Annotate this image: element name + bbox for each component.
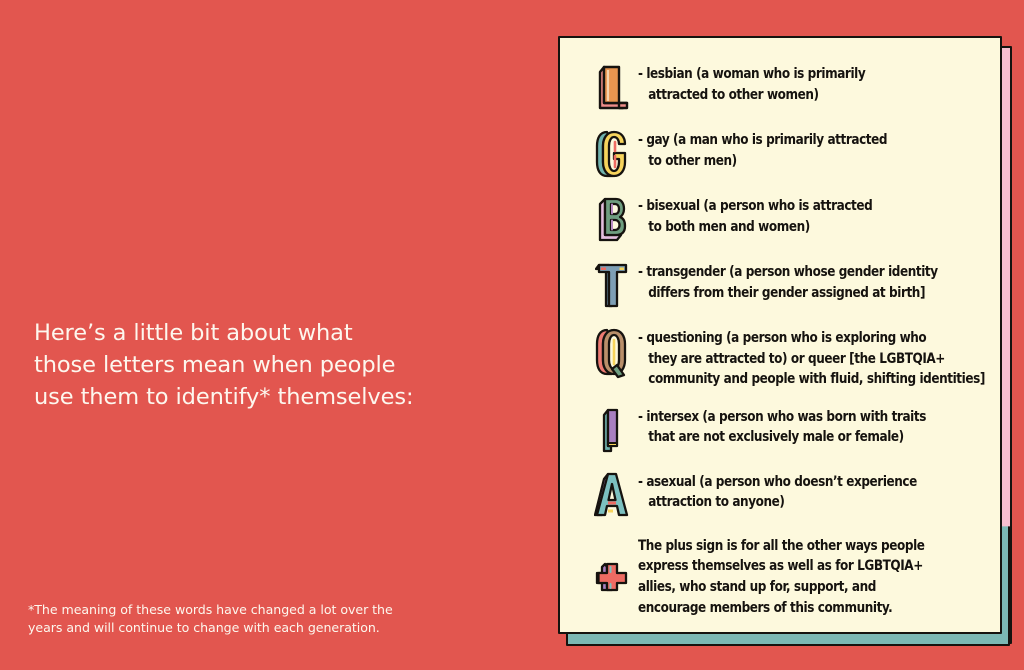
glossary-entry: - gay (a man who is primarily attracted …	[586, 128, 988, 179]
entry-line: differs from their gender assigned at bi…	[638, 283, 964, 304]
glossary-entry: The plus sign is for all the other ways …	[586, 534, 988, 618]
glossary-entry-text: The plus sign is for all the other ways …	[638, 534, 964, 618]
entry-line: - lesbian (a woman who is primarily	[638, 64, 964, 85]
glossary-entry-text: - bisexual (a person who is attracted to…	[638, 194, 964, 237]
entry-line: they are attracted to) or queer [the LGB…	[638, 349, 985, 370]
entry-line: to both men and women)	[638, 217, 964, 238]
glossary-entry: - intersex (a person who was born with t…	[586, 405, 988, 455]
entry-line: encourage members of this community.	[638, 598, 964, 619]
glossary-entry: - lesbian (a woman who is primarily attr…	[586, 62, 988, 113]
letter-l-icon	[586, 62, 638, 113]
footnote: *The meaning of these words have changed…	[28, 601, 478, 638]
entry-line: attraction to anyone)	[638, 492, 964, 513]
letter-a-icon	[586, 470, 638, 519]
glossary-entry: - transgender (a person whose gender ide…	[586, 260, 988, 311]
entry-line: - intersex (a person who was born with t…	[638, 407, 964, 428]
entry-line: - gay (a man who is primarily attracted	[638, 130, 964, 151]
glossary-card-wrapper: - lesbian (a woman who is primarily attr…	[558, 36, 1002, 634]
intro-paragraph: Here’s a little bit about what those let…	[34, 318, 464, 414]
intro-line: use them to identify* themselves:	[34, 382, 464, 414]
entry-line: to other men)	[638, 151, 964, 172]
entry-line: community and people with fluid, shiftin…	[638, 369, 985, 390]
entry-line: The plus sign is for all the other ways …	[638, 536, 964, 557]
glossary-entry: - asexual (a person who doesn’t experien…	[586, 470, 988, 519]
entry-line: - bisexual (a person who is attracted	[638, 196, 964, 217]
footnote-line: years and will continue to change with e…	[28, 619, 478, 637]
entry-line: - questioning (a person who is exploring…	[638, 328, 985, 349]
letter-g-icon	[586, 128, 638, 179]
footnote-line: *The meaning of these words have changed…	[28, 601, 478, 619]
page-root: Here’s a little bit about what those let…	[0, 0, 1024, 670]
glossary-entry-text: - lesbian (a woman who is primarily attr…	[638, 62, 964, 105]
entry-line: express themselves as well as for LGBTQI…	[638, 556, 964, 577]
glossary-entry-list: - lesbian (a woman who is primarily attr…	[560, 38, 1000, 632]
glossary-entry-text: - intersex (a person who was born with t…	[638, 405, 964, 448]
letter-i-icon	[586, 405, 638, 455]
entry-line: that are not exclusively male or female)	[638, 427, 964, 448]
entry-line: attracted to other women)	[638, 85, 964, 106]
glossary-entry-text: - questioning (a person who is exploring…	[638, 326, 985, 390]
intro-line: those letters mean when people	[34, 350, 464, 382]
glossary-entry-text: - asexual (a person who doesn’t experien…	[638, 470, 964, 513]
plus-sign-icon	[586, 534, 638, 594]
letter-b-icon	[586, 194, 638, 245]
glossary-entry-text: - gay (a man who is primarily attracted …	[638, 128, 964, 171]
left-panel: Here’s a little bit about what those let…	[0, 0, 545, 670]
intro-line: Here’s a little bit about what	[34, 318, 464, 350]
letter-t-icon	[586, 260, 638, 311]
glossary-entry: - questioning (a person who is exploring…	[586, 326, 988, 390]
letter-q-icon	[586, 326, 638, 379]
glossary-entry-text: - transgender (a person whose gender ide…	[638, 260, 964, 303]
glossary-card: - lesbian (a woman who is primarily attr…	[558, 36, 1002, 634]
glossary-entry: - bisexual (a person who is attracted to…	[586, 194, 988, 245]
entry-line: - transgender (a person whose gender ide…	[638, 262, 964, 283]
entry-line: - asexual (a person who doesn’t experien…	[638, 472, 964, 493]
entry-line: allies, who stand up for, support, and	[638, 577, 964, 598]
